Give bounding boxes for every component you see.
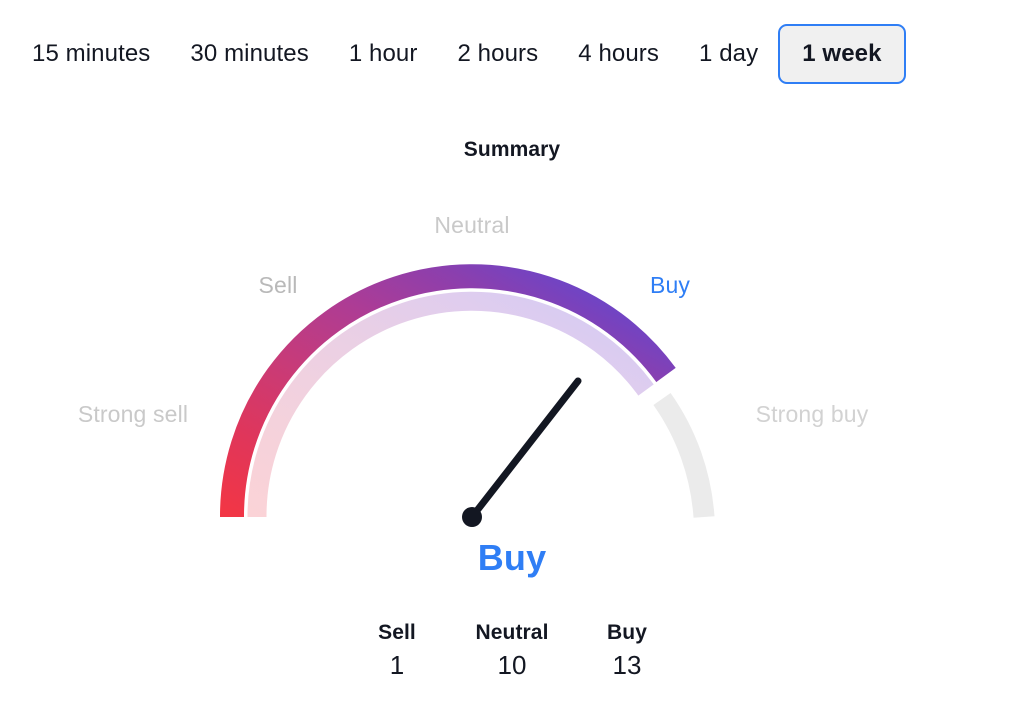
gauge-needle (472, 381, 578, 517)
gauge-arc-inactive (662, 399, 704, 517)
tab-2-hours[interactable]: 2 hours (437, 24, 558, 84)
gauge-label-sell: Sell (259, 272, 298, 298)
summary-gauge: Strong sell Sell Neutral Buy Strong buy (0, 185, 1024, 545)
gauge-label-strong-sell: Strong sell (78, 401, 188, 427)
count-column-sell: Sell 1 (340, 620, 455, 685)
tab-1-hour[interactable]: 1 hour (329, 24, 438, 84)
gauge-label-buy: Buy (650, 272, 690, 298)
tab-1-week[interactable]: 1 week (778, 24, 905, 84)
timeframe-tab-bar: 15 minutes 30 minutes 1 hour 2 hours 4 h… (0, 0, 1024, 108)
count-header-buy: Buy (570, 620, 685, 646)
count-value-buy: 13 (570, 646, 685, 685)
gauge-label-strong-buy: Strong buy (756, 401, 869, 427)
gauge-label-neutral: Neutral (434, 212, 509, 238)
count-value-neutral: 10 (455, 646, 570, 685)
count-value-sell: 1 (340, 646, 455, 685)
summary-verdict: Buy (0, 537, 1024, 579)
tab-30-minutes[interactable]: 30 minutes (170, 24, 328, 84)
tab-1-day[interactable]: 1 day (679, 24, 778, 84)
count-header-neutral: Neutral (455, 620, 570, 646)
count-header-sell: Sell (340, 620, 455, 646)
tab-15-minutes[interactable]: 15 minutes (12, 24, 170, 84)
page-title: Summary (0, 138, 1024, 162)
count-column-buy: Buy 13 (570, 620, 685, 685)
signal-counts-table: Sell 1 Neutral 10 Buy 13 (0, 620, 1024, 685)
count-column-neutral: Neutral 10 (455, 620, 570, 685)
tab-4-hours[interactable]: 4 hours (558, 24, 679, 84)
gauge-needle-pivot (462, 507, 482, 527)
gauge-svg: Strong sell Sell Neutral Buy Strong buy (0, 185, 1024, 545)
